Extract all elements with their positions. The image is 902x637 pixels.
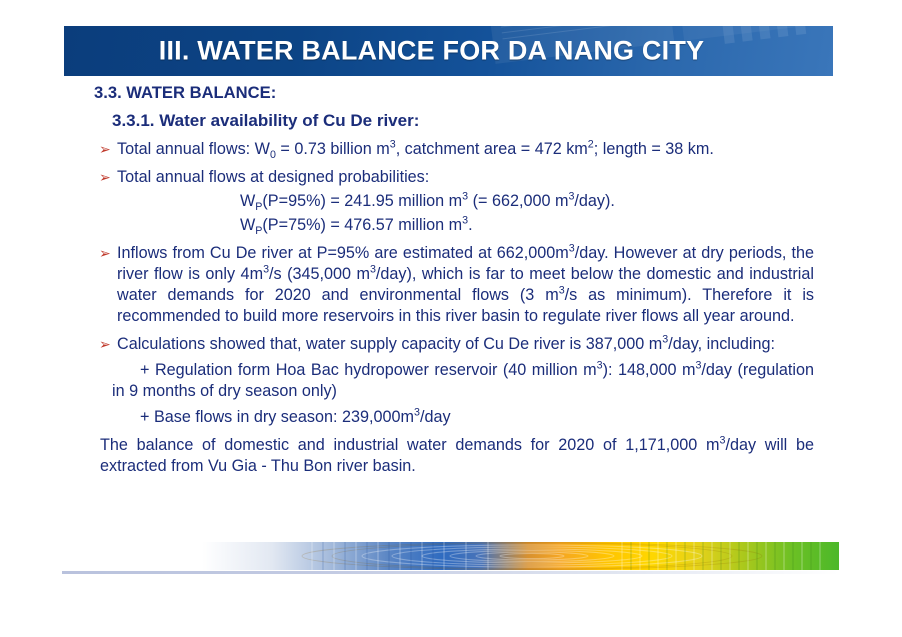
- bullet3-part3: /s (345,000 m: [269, 265, 370, 283]
- bullet-item-water-supply-capacity: ➢ Calculations showed that, water supply…: [0, 334, 902, 355]
- arrow-bullet-icon: ➢: [99, 244, 111, 262]
- bullet1-part2: = 0.73 billion m: [276, 140, 390, 158]
- wp75-part2: (P=75%) = 476.57 million m: [262, 216, 462, 234]
- footer-band-gradient: [62, 542, 839, 570]
- bullet-item-designed-probabilities: ➢ Total annual flows at designed probabi…: [0, 167, 902, 188]
- closing-part1: The balance of domestic and industrial w…: [100, 436, 720, 454]
- bullet4-part1: Calculations showed that, water supply c…: [117, 335, 662, 353]
- bullet3-part1: Inflows from Cu De river at P=95% are es…: [117, 244, 569, 262]
- formula-line-p75: WP(P=75%) = 476.57 million m3.: [0, 215, 902, 236]
- subitem2-part1: + Base flows in dry season: 239,000m: [112, 408, 414, 426]
- bullet-text: Total annual flows at designed probabili…: [117, 167, 814, 188]
- bullet1-part4: ; length = 38 km.: [594, 140, 714, 158]
- sub-item-base-flows: + Base flows in dry season: 239,000m3/da…: [0, 407, 902, 428]
- bullet-text: Inflows from Cu De river at P=95% are es…: [117, 243, 814, 327]
- bullet4-part2: /day, including:: [668, 335, 775, 353]
- bullet1-part3: , catchment area = 472 km: [396, 140, 588, 158]
- wp75-part3: .: [468, 216, 473, 234]
- arrow-bullet-icon: ➢: [99, 168, 111, 186]
- bullet-item-total-annual-flows: ➢ Total annual flows: W0 = 0.73 billion …: [0, 139, 902, 160]
- wp95-part2: (P=95%) = 241.95 million m: [262, 192, 462, 210]
- bullet-item-inflows-cu-de: ➢ Inflows from Cu De river at P=95% are …: [0, 243, 902, 327]
- wp95-part1: W: [240, 192, 255, 210]
- slide-title: III. WATER BALANCE FOR DA NANG CITY: [64, 36, 833, 67]
- slide-title-banner: III. WATER BALANCE FOR DA NANG CITY: [64, 26, 833, 76]
- formula-line-p95: WP(P=95%) = 241.95 million m3 (= 662,000…: [0, 191, 902, 212]
- subitem2-part2: /day: [420, 408, 451, 426]
- wp95-part3: (= 662,000 m: [468, 192, 568, 210]
- subsection-heading: 3.3.1. Water availability of Cu De river…: [112, 110, 902, 132]
- subitem1-part1: + Regulation form Hoa Bac hydropower res…: [112, 361, 597, 379]
- wp75-part1: W: [240, 216, 255, 234]
- bullet-text: Total annual flows: W0 = 0.73 billion m3…: [117, 139, 814, 160]
- sub-item-regulation-hoa-bac: + Regulation form Hoa Bac hydropower res…: [0, 360, 902, 402]
- arrow-bullet-icon: ➢: [99, 140, 111, 158]
- section-heading: 3.3. WATER BALANCE:: [94, 80, 902, 104]
- footer-underline-rule: [62, 571, 839, 574]
- arrow-bullet-icon: ➢: [99, 335, 111, 353]
- wp95-part4: /day).: [574, 192, 615, 210]
- decorative-footer-band: [62, 542, 839, 570]
- bullet-text: Calculations showed that, water supply c…: [117, 334, 814, 355]
- slide-body: 3.3. WATER BALANCE: 3.3.1. Water availab…: [0, 80, 902, 478]
- subitem1-part2: ): 148,000 m: [603, 361, 696, 379]
- bullet1-part1: Total annual flows: W: [117, 140, 270, 158]
- closing-paragraph: The balance of domestic and industrial w…: [0, 435, 902, 477]
